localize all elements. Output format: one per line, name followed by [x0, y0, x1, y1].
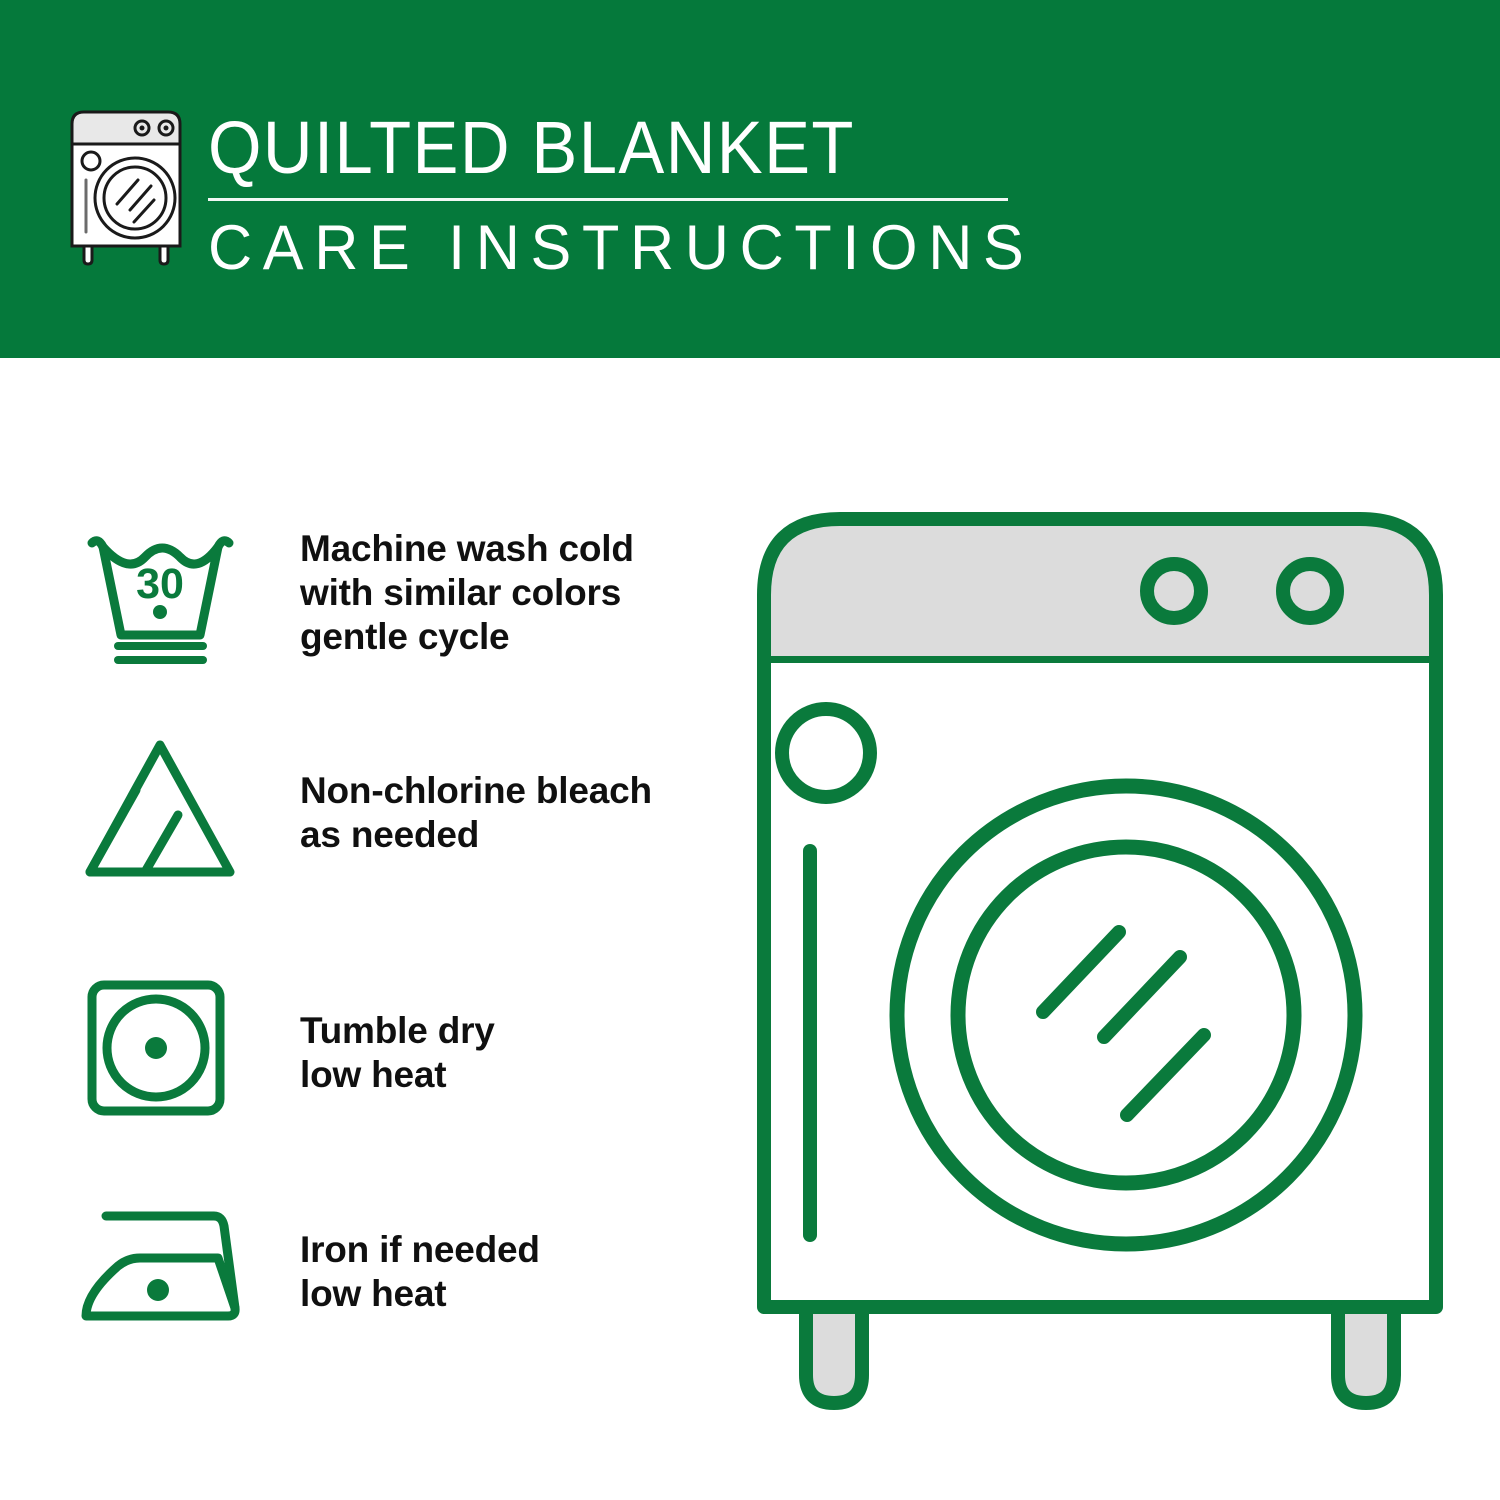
leg-right	[1338, 1307, 1394, 1403]
leg-left	[806, 1307, 862, 1403]
header-titles: QUILTED BLANKET CARE INSTRUCTIONS	[208, 104, 1060, 283]
care-line: Machine wash cold	[300, 527, 730, 571]
header-banner: QUILTED BLANKET CARE INSTRUCTIONS	[0, 0, 1500, 358]
care-line: Non-chlorine bleach	[300, 769, 730, 813]
tumble-dry-low-heat-icon	[70, 967, 245, 1127]
washing-machine-icon	[62, 104, 190, 266]
title-divider	[208, 198, 1008, 201]
front-load-washing-machine-illustration	[740, 495, 1460, 1425]
care-item-bleach: Non-chlorine bleach as needed	[70, 727, 730, 887]
wash-temp-label: 30	[136, 560, 184, 608]
care-line: Tumble dry	[300, 1009, 730, 1053]
care-line: low heat	[300, 1272, 730, 1316]
care-line: as needed	[300, 813, 730, 857]
care-item-iron: Iron if needed low heat	[70, 1190, 730, 1350]
care-line: with similar colors	[300, 571, 730, 615]
non-chlorine-bleach-triangle-icon	[70, 727, 245, 887]
care-instructions-infographic: QUILTED BLANKET CARE INSTRUCTIONS	[0, 0, 1500, 1500]
care-line: low heat	[300, 1053, 730, 1097]
care-line: Iron if needed	[300, 1228, 730, 1272]
header-content: QUILTED BLANKET CARE INSTRUCTIONS	[62, 104, 1060, 283]
iron-low-heat-icon	[70, 1190, 245, 1350]
wash-tub-30-gentle-icon: 30	[70, 505, 245, 665]
care-item-tumble-dry-label: Tumble dry low heat	[245, 967, 730, 1097]
care-item-wash: 30 Machine wash cold with similar colors…	[70, 505, 730, 665]
care-item-tumble-dry: Tumble dry low heat	[70, 967, 730, 1127]
care-line: gentle cycle	[300, 615, 730, 659]
page-subtitle: CARE INSTRUCTIONS	[208, 213, 1034, 283]
care-item-iron-label: Iron if needed low heat	[245, 1190, 730, 1316]
care-item-bleach-label: Non-chlorine bleach as needed	[245, 727, 730, 857]
page-title: QUILTED BLANKET	[208, 108, 1000, 188]
care-item-wash-label: Machine wash cold with similar colors ge…	[245, 505, 730, 659]
